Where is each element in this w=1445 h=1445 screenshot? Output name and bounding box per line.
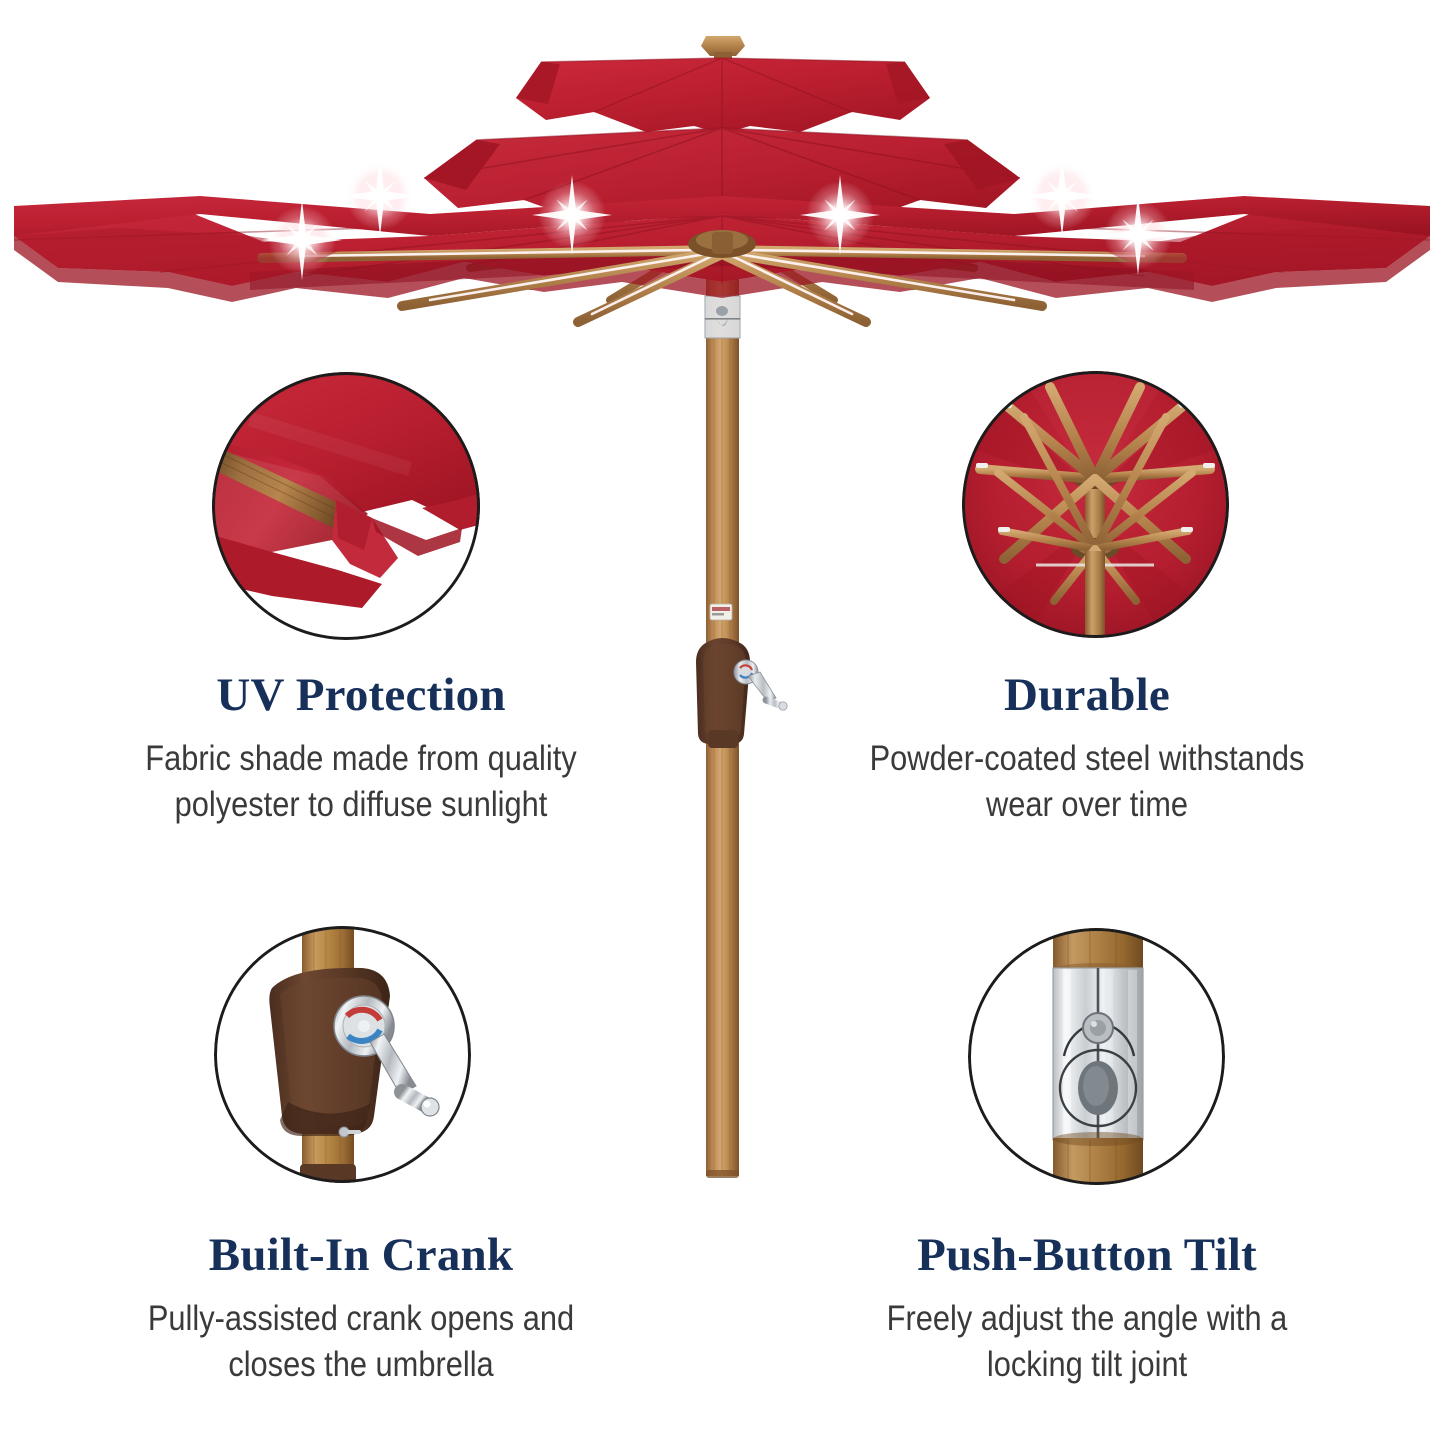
feature-desc-line-1: Fabric shade made from quality	[145, 739, 576, 778]
feature-desc-line-1: Freely adjust the angle with a	[887, 1299, 1288, 1338]
callout-durable-image	[962, 371, 1229, 638]
feature-desc-line-2: closes the umbrella	[228, 1345, 493, 1384]
rib-hub	[688, 230, 756, 258]
led-sparkles	[262, 156, 1178, 280]
feature-desc-line-2: wear over time	[986, 785, 1188, 824]
feature-description-push-button-tilt: Freely adjust the angle with a locking t…	[782, 1296, 1393, 1388]
callout-built-in-crank	[214, 926, 471, 1183]
canopy-tier-middle	[424, 128, 1020, 312]
canopy-tier-top	[516, 36, 930, 200]
canopy-tier-bottom	[14, 156, 1430, 322]
tilt-joint-on-pole	[705, 296, 740, 338]
feature-block-built-in-crank: Built-In Crank Pully-assisted crank open…	[14, 1232, 708, 1388]
feature-description-durable: Powder-coated steel withstands wear over…	[782, 736, 1393, 828]
feature-description-uv-protection: Fabric shade made from quality polyester…	[56, 736, 667, 828]
callout-uv-image	[212, 372, 480, 640]
feature-title-built-in-crank: Built-In Crank	[14, 1232, 708, 1280]
feature-desc-line-1: Pully-assisted crank opens and	[148, 1299, 574, 1338]
infographic-canvas: UV Protection Fabric shade made from qua…	[0, 0, 1445, 1445]
feature-description-built-in-crank: Pully-assisted crank opens and closes th…	[56, 1296, 667, 1388]
feature-block-push-button-tilt: Push-Button Tilt Freely adjust the angle…	[740, 1232, 1434, 1388]
callout-uv-protection	[212, 372, 480, 640]
callout-crank-image	[214, 926, 471, 1183]
callout-push-button-tilt	[968, 928, 1225, 1185]
feature-title-push-button-tilt: Push-Button Tilt	[740, 1232, 1434, 1280]
feature-block-durable: Durable Powder-coated steel withstands w…	[740, 672, 1434, 828]
feature-desc-line-2: polyester to diffuse sunlight	[175, 785, 548, 824]
callout-tilt-image	[968, 928, 1225, 1185]
feature-block-uv-protection: UV Protection Fabric shade made from qua…	[14, 672, 708, 828]
umbrella-pole	[705, 236, 740, 1178]
feature-title-uv-protection: UV Protection	[14, 672, 708, 720]
feature-title-durable: Durable	[740, 672, 1434, 720]
canopy-ribs-with-leds	[260, 250, 1184, 322]
callout-durable	[962, 371, 1229, 638]
pole-label	[710, 604, 732, 620]
feature-desc-line-2: locking tilt joint	[987, 1345, 1187, 1384]
feature-desc-line-1: Powder-coated steel withstands	[870, 739, 1305, 778]
